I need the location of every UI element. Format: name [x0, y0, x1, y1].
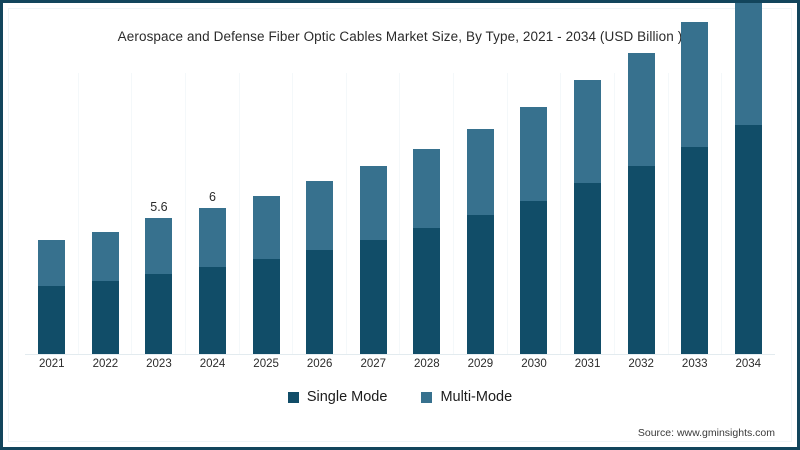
- bar-segment-multi-mode[interactable]: [681, 22, 708, 147]
- bar-stack-2032[interactable]: [628, 53, 655, 355]
- bar-segment-multi-mode[interactable]: [360, 166, 387, 240]
- bar-segment-multi-mode[interactable]: [574, 80, 601, 183]
- bar-group[interactable]: [668, 73, 722, 355]
- x-tick-2030: 2030: [507, 358, 561, 378]
- legend-item[interactable]: Single Mode: [288, 389, 388, 405]
- bar-stack-2028[interactable]: [413, 149, 440, 355]
- bar-group[interactable]: [293, 73, 347, 355]
- bar-stack-2030[interactable]: [520, 107, 547, 355]
- bar-segment-multi-mode[interactable]: [413, 149, 440, 227]
- bar-stack-2029[interactable]: [467, 129, 494, 355]
- x-tick-2026: 2026: [293, 358, 347, 378]
- x-tick-2031: 2031: [561, 358, 615, 378]
- bar-series-container: 5.66: [25, 73, 775, 355]
- bar-group[interactable]: [25, 73, 79, 355]
- bar-segment-multi-mode[interactable]: [38, 240, 65, 287]
- bar-segment-multi-mode[interactable]: [199, 208, 226, 267]
- bar-segment-multi-mode[interactable]: [735, 0, 762, 125]
- x-tick-2023: 2023: [132, 358, 186, 378]
- bar-segment-multi-mode[interactable]: [467, 129, 494, 215]
- bar-value-label: 5.6: [150, 200, 167, 214]
- chart-card: Aerospace and Defense Fiber Optic Cables…: [0, 0, 800, 450]
- plot-area: 5.66: [25, 73, 775, 355]
- bar-segment-multi-mode[interactable]: [145, 218, 172, 274]
- x-tick-2033: 2033: [668, 358, 722, 378]
- bar-stack-2034[interactable]: [735, 0, 762, 355]
- x-tick-2034: 2034: [722, 358, 776, 378]
- bar-segment-single-mode[interactable]: [92, 281, 119, 355]
- bar-stack-2022[interactable]: [92, 232, 119, 355]
- x-tick-2024: 2024: [186, 358, 240, 378]
- chart-title: Aerospace and Defense Fiber Optic Cables…: [3, 29, 797, 44]
- bar-segment-multi-mode[interactable]: [520, 107, 547, 200]
- bar-segment-multi-mode[interactable]: [628, 53, 655, 166]
- x-tick-2028: 2028: [400, 358, 454, 378]
- bar-value-label: 6: [209, 190, 216, 204]
- x-tick-2021: 2021: [25, 358, 79, 378]
- bar-segment-single-mode[interactable]: [467, 215, 494, 355]
- legend-swatch-icon: [288, 392, 299, 403]
- bar-stack-2031[interactable]: [574, 80, 601, 355]
- bar-segment-single-mode[interactable]: [360, 240, 387, 355]
- bar-stack-2023[interactable]: 5.6: [145, 218, 172, 355]
- bar-stack-2033[interactable]: [681, 22, 708, 355]
- bar-group[interactable]: [454, 73, 508, 355]
- chart-legend: Single ModeMulti-Mode: [3, 389, 797, 405]
- bar-group[interactable]: [346, 73, 400, 355]
- bar-segment-single-mode[interactable]: [681, 147, 708, 355]
- bar-segment-single-mode[interactable]: [735, 125, 762, 356]
- bar-group[interactable]: [614, 73, 668, 355]
- bar-segment-single-mode[interactable]: [628, 166, 655, 355]
- bar-stack-2021[interactable]: [38, 240, 65, 355]
- bar-group[interactable]: [561, 73, 615, 355]
- bar-segment-multi-mode[interactable]: [306, 181, 333, 250]
- x-tick-2027: 2027: [346, 358, 400, 378]
- bar-segment-single-mode[interactable]: [199, 267, 226, 355]
- bar-segment-single-mode[interactable]: [520, 201, 547, 355]
- source-attribution: Source: www.gminsights.com: [638, 427, 775, 439]
- bar-segment-single-mode[interactable]: [413, 228, 440, 356]
- bar-group[interactable]: [507, 73, 561, 355]
- x-tick-2032: 2032: [614, 358, 668, 378]
- bar-group[interactable]: [722, 73, 776, 355]
- bar-segment-multi-mode[interactable]: [253, 196, 280, 260]
- bar-group[interactable]: 6: [186, 73, 240, 355]
- bar-segment-single-mode[interactable]: [38, 286, 65, 355]
- bar-stack-2025[interactable]: [253, 196, 280, 355]
- legend-swatch-icon: [421, 392, 432, 403]
- x-tick-2025: 2025: [239, 358, 293, 378]
- legend-label: Single Mode: [307, 389, 388, 405]
- bar-stack-2027[interactable]: [360, 166, 387, 355]
- x-axis-tick-labels: 2021202220232024202520262027202820292030…: [25, 358, 775, 378]
- bar-segment-single-mode[interactable]: [253, 259, 280, 355]
- bar-segment-single-mode[interactable]: [306, 250, 333, 355]
- legend-item[interactable]: Multi-Mode: [421, 389, 512, 405]
- bar-group[interactable]: [400, 73, 454, 355]
- axis-baseline: [25, 354, 775, 355]
- bar-group[interactable]: [79, 73, 133, 355]
- bar-segment-multi-mode[interactable]: [92, 232, 119, 281]
- x-tick-2029: 2029: [454, 358, 508, 378]
- bar-segment-single-mode[interactable]: [145, 274, 172, 355]
- bar-group[interactable]: 5.6: [132, 73, 186, 355]
- bar-group[interactable]: [239, 73, 293, 355]
- bar-segment-single-mode[interactable]: [574, 183, 601, 355]
- bar-stack-2026[interactable]: [306, 181, 333, 355]
- x-tick-2022: 2022: [79, 358, 133, 378]
- legend-label: Multi-Mode: [440, 389, 512, 405]
- bar-stack-2024[interactable]: 6: [199, 208, 226, 355]
